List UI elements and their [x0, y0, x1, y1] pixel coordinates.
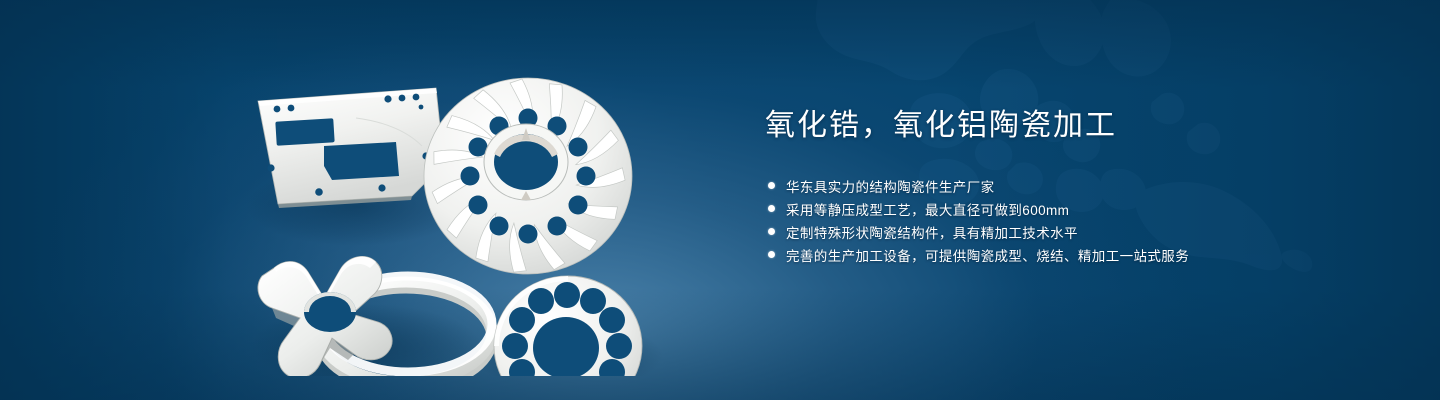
list-item: 采用等静压成型工艺，最大直径可做到600mm [768, 197, 1388, 220]
feature-text: 采用等静压成型工艺，最大直径可做到600mm [786, 199, 1069, 219]
page-title: 氧化锆，氧化铝陶瓷加工 [765, 108, 1385, 144]
ceramic-plate-with-cutouts [258, 88, 444, 208]
feature-list: 华东具实力的结构陶瓷件生产厂家 采用等静压成型工艺，最大直径可做到600mm 定… [768, 174, 1388, 266]
feature-text: 华东具实力的结构陶瓷件生产厂家 [786, 176, 995, 196]
bullet-icon [768, 251, 775, 258]
bullet-icon [768, 182, 775, 189]
bullet-icon [768, 228, 775, 235]
list-item: 定制特殊形状陶瓷结构件，具有精加工技术水平 [768, 220, 1388, 243]
ceramic-impeller-disc [424, 78, 632, 275]
list-item: 华东具实力的结构陶瓷件生产厂家 [768, 174, 1388, 197]
list-item: 完善的生产加工设备，可提供陶瓷成型、烧结、精加工一站式服务 [768, 243, 1388, 266]
feature-text: 完善的生产加工设备，可提供陶瓷成型、烧结、精加工一站式服务 [786, 245, 1189, 265]
ceramic-perforated-ring-disc [494, 276, 642, 376]
bullet-icon [768, 205, 775, 212]
banner-copy: 氧化锆，氧化铝陶瓷加工 华东具实力的结构陶瓷件生产厂家 采用等静压成型工艺，最大… [765, 108, 1385, 144]
hero-banner: 氧化锆，氧化铝陶瓷加工 华东具实力的结构陶瓷件生产厂家 采用等静压成型工艺，最大… [0, 0, 1440, 400]
ceramic-products-image [236, 46, 686, 376]
feature-text: 定制特殊形状陶瓷结构件，具有精加工技术水平 [786, 222, 1078, 242]
